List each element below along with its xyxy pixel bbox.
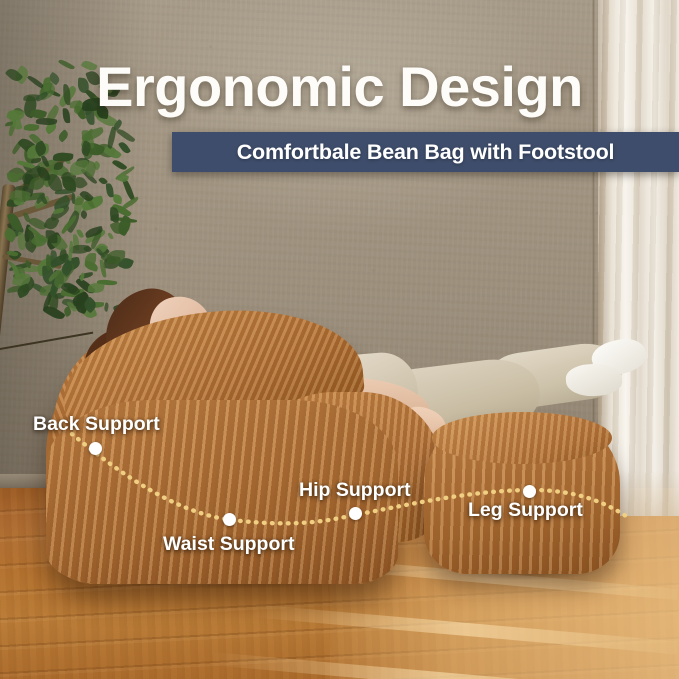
callout-dot-back-support [89, 442, 102, 455]
plant-leaf [107, 232, 114, 240]
footstool-top [432, 412, 612, 464]
plant-leaf [57, 129, 70, 142]
corduroy-ribbing [432, 412, 612, 464]
product-feature-image: Back SupportWaist SupportHip SupportLeg … [0, 0, 679, 679]
callout-label-waist-support: Waist Support [163, 533, 294, 556]
callout-dot-leg-support [523, 485, 536, 498]
callout-label-leg-support: Leg Support [468, 499, 583, 522]
subtitle-banner: Comfortbale Bean Bag with Footstool [172, 132, 679, 172]
plant-leaf [23, 123, 39, 132]
page-title: Ergonomic Design [0, 58, 679, 117]
plant-leaf [16, 232, 26, 251]
plant-stem [0, 332, 93, 355]
callout-label-back-support: Back Support [33, 413, 160, 436]
subtitle-text: Comfortbale Bean Bag with Footstool [237, 140, 615, 165]
callout-label-hip-support: Hip Support [299, 479, 411, 502]
plant-leaf [116, 127, 135, 143]
callout-dot-waist-support [223, 513, 236, 526]
footstool [424, 418, 620, 574]
callout-dot-hip-support [349, 507, 362, 520]
plant-leaf [83, 260, 99, 272]
plant-leaf [113, 194, 123, 204]
